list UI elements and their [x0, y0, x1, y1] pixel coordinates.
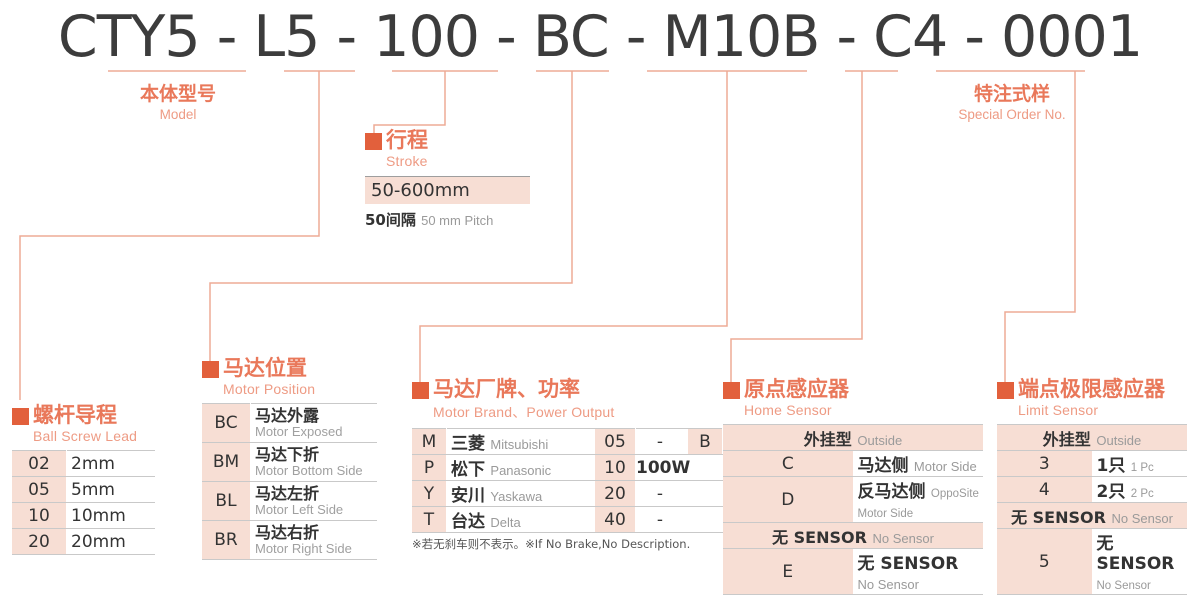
- cell-code: 10: [12, 503, 67, 529]
- banner-no-sensor: 无 SENSOR No Sensor: [723, 523, 983, 549]
- banner-outside-cn: 外挂型: [804, 430, 852, 449]
- limit-sensor-title-cn: 端点极限感应器: [1018, 379, 1165, 400]
- cell-value-en: Motor Left Side: [255, 503, 373, 518]
- section-stroke: 行程 Stroke 50-600mm 50间隔 50 mm Pitch: [365, 130, 530, 230]
- cell-value-cn: 无 SENSOR: [1097, 534, 1175, 574]
- stroke-title-cn: 行程: [386, 130, 428, 151]
- motor-brand-heading: 马达厂牌、功率: [412, 379, 723, 400]
- cell-code: 02: [12, 451, 67, 477]
- table-row[interactable]: 02 2mm: [12, 451, 155, 477]
- cell-value-cn: 马达外露: [255, 407, 373, 425]
- cell-value: 马达外露 Motor Exposed: [251, 404, 378, 443]
- product-code: CTY5 - L5 - 100 - BC - M10B - C4 - 0001: [0, 4, 1200, 70]
- cell-brand-en: Mitsubishi: [490, 437, 548, 452]
- label-model-en: Model: [108, 107, 248, 122]
- motor-position-title-cn: 马达位置: [223, 358, 307, 379]
- cell-code: BM: [202, 443, 251, 482]
- table-row[interactable]: BM 马达下折 Motor Bottom Side: [202, 443, 377, 482]
- table-row[interactable]: 20 20mm: [12, 529, 155, 555]
- cell-value-cn: 反马达侧: [858, 482, 926, 502]
- section-marker-icon: [12, 408, 29, 425]
- table-row[interactable]: C 马达侧 Motor Side: [723, 451, 983, 477]
- cell-value-cn: 马达侧: [858, 456, 909, 476]
- cell-brand-code: P: [412, 455, 447, 481]
- cell-code: E: [723, 549, 853, 595]
- cell-value: 2只 2 Pc: [1092, 477, 1187, 503]
- cell-brand-code: T: [412, 507, 447, 533]
- cell-code: BR: [202, 521, 251, 560]
- table-row[interactable]: T 台达 Delta 40 -: [412, 507, 723, 533]
- table-row[interactable]: 10 10mm: [12, 503, 155, 529]
- label-special-order: 特注式样 Special Order No.: [938, 84, 1086, 122]
- cell-brand-cn: 松下: [451, 460, 485, 480]
- cell-brake-code: [688, 481, 723, 507]
- stroke-title-en: Stroke: [386, 153, 530, 169]
- cell-value-cn: 1只: [1097, 456, 1126, 476]
- banner-no-sensor: 无 SENSOR No Sensor: [997, 503, 1187, 529]
- cell-power-value: -: [636, 507, 689, 533]
- cell-value-en: 1 Pc: [1131, 462, 1154, 474]
- cell-value-cn: 马达左折: [255, 485, 373, 503]
- ball-screw-lead-heading: 螺杆导程: [12, 405, 155, 426]
- banner-no-sensor-en: No Sensor: [873, 531, 934, 546]
- cell-brand-cn: 安川: [451, 486, 485, 506]
- home-sensor-title-cn: 原点感应器: [744, 379, 849, 400]
- section-motor-position: 马达位置 Motor Position BC 马达外露 Motor Expose…: [202, 358, 377, 560]
- table-row[interactable]: BC 马达外露 Motor Exposed: [202, 404, 377, 443]
- stroke-range-box: 50-600mm: [365, 176, 530, 204]
- label-model-cn: 本体型号: [108, 84, 248, 105]
- cell-value-en: Motor Bottom Side: [255, 464, 373, 479]
- cell-brand-cn: 台达: [451, 512, 485, 532]
- table-row[interactable]: 4 2只 2 Pc: [997, 477, 1187, 503]
- home-sensor-table: 外挂型 Outside C 马达侧 Motor Side D 反马达侧 Oppo: [723, 424, 983, 595]
- ball-screw-lead-table: 02 2mm 05 5mm 10 10mm 20 20mm: [12, 450, 155, 555]
- cell-code: 4: [997, 477, 1092, 503]
- cell-code: 5: [997, 529, 1092, 595]
- cell-value: 20mm: [67, 529, 156, 555]
- cell-value-en: 2 Pc: [1131, 488, 1154, 500]
- cell-code: C: [723, 451, 853, 477]
- table-row[interactable]: BR 马达右折 Motor Right Side: [202, 521, 377, 560]
- table-banner-row: 无 SENSOR No Sensor: [723, 523, 983, 549]
- cell-value: 反马达侧 OppoSite Motor Side: [853, 477, 983, 523]
- cell-code: D: [723, 477, 853, 523]
- cell-brand-en: Yaskawa: [490, 489, 542, 504]
- motor-position-table: BC 马达外露 Motor Exposed BM 马达下折 Motor Bott…: [202, 403, 377, 560]
- table-banner-row: 外挂型 Outside: [723, 425, 983, 451]
- cell-value-en: Motor Exposed: [255, 425, 373, 440]
- banner-outside: 外挂型 Outside: [997, 425, 1187, 451]
- banner-no-sensor-cn: 无 SENSOR: [1011, 508, 1106, 527]
- cell-value-cn: 马达下折: [255, 446, 373, 464]
- cell-power-value: 100W: [636, 455, 689, 481]
- cell-value-en: Motor Side: [914, 459, 977, 474]
- table-row[interactable]: 5 无 SENSOR No Sensor: [997, 529, 1187, 595]
- section-marker-icon: [412, 382, 429, 399]
- cell-value: 10mm: [67, 503, 156, 529]
- table-row[interactable]: P 松下 Panasonic 10 100W: [412, 455, 723, 481]
- limit-sensor-heading: 端点极限感应器: [997, 379, 1187, 400]
- banner-outside-en: Outside: [1096, 433, 1141, 448]
- motor-brand-title-cn: 马达厂牌、功率: [433, 379, 580, 400]
- cell-brand-en: Panasonic: [490, 463, 551, 478]
- home-sensor-heading: 原点感应器: [723, 379, 983, 400]
- cell-code: BC: [202, 404, 251, 443]
- section-marker-icon: [997, 382, 1014, 399]
- table-row[interactable]: D 反马达侧 OppoSite Motor Side: [723, 477, 983, 523]
- cell-brake-code: [688, 507, 723, 533]
- table-banner-row: 外挂型 Outside: [997, 425, 1187, 451]
- ball-screw-lead-title-en: Ball Screw Lead: [33, 428, 155, 444]
- section-marker-icon: [365, 133, 382, 150]
- section-motor-brand-power: 马达厂牌、功率 Motor Brand、Power Output M 三菱 Mi…: [412, 379, 723, 552]
- cell-value-en: No Sensor: [858, 577, 919, 592]
- cell-code: 3: [997, 451, 1092, 477]
- cell-brand-name: 三菱 Mitsubishi: [447, 429, 596, 455]
- section-marker-icon: [723, 382, 740, 399]
- motor-position-title-en: Motor Position: [223, 381, 377, 397]
- table-row[interactable]: Y 安川 Yaskawa 20 -: [412, 481, 723, 507]
- motor-position-heading: 马达位置: [202, 358, 377, 379]
- stroke-pitch-en: 50 mm Pitch: [421, 213, 493, 228]
- cell-code: BL: [202, 482, 251, 521]
- table-row[interactable]: M 三菱 Mitsubishi 05 - B: [412, 429, 723, 455]
- label-special-order-en: Special Order No.: [938, 107, 1086, 122]
- limit-sensor-table: 外挂型 Outside 3 1只 1 Pc 4 2只 2 Pc: [997, 424, 1187, 595]
- cell-power-value: -: [636, 481, 689, 507]
- motor-brand-title-en: Motor Brand、Power Output: [433, 402, 723, 422]
- cell-value: 1只 1 Pc: [1092, 451, 1187, 477]
- table-row[interactable]: E 无 SENSOR No Sensor: [723, 549, 983, 595]
- cell-brand-code: M: [412, 429, 447, 455]
- section-limit-sensor: 端点极限感应器 Limit Sensor 外挂型 Outside 3 1只 1 …: [997, 379, 1187, 595]
- table-row[interactable]: 3 1只 1 Pc: [997, 451, 1187, 477]
- cell-value: 5mm: [67, 477, 156, 503]
- table-row[interactable]: BL 马达左折 Motor Left Side: [202, 482, 377, 521]
- label-model: 本体型号 Model: [108, 84, 248, 122]
- cell-value-cn: 无 SENSOR: [858, 554, 959, 574]
- cell-value: 2mm: [67, 451, 156, 477]
- banner-outside: 外挂型 Outside: [723, 425, 983, 451]
- home-sensor-title-en: Home Sensor: [744, 402, 983, 418]
- section-marker-icon: [202, 361, 219, 378]
- cell-brand-name: 松下 Panasonic: [447, 455, 596, 481]
- cell-value-cn: 2只: [1097, 482, 1126, 502]
- ball-screw-lead-title-cn: 螺杆导程: [33, 405, 117, 426]
- cell-value: 无 SENSOR No Sensor: [1092, 529, 1187, 595]
- cell-brand-name: 台达 Delta: [447, 507, 596, 533]
- cell-power-code: 20: [595, 481, 636, 507]
- motor-brand-note: ※若无刹车则不表示。※If No Brake,No Description.: [412, 536, 723, 552]
- cell-brake-code: B: [688, 429, 723, 455]
- cell-value: 马达左折 Motor Left Side: [251, 482, 378, 521]
- table-banner-row: 无 SENSOR No Sensor: [997, 503, 1187, 529]
- product-code-diagram: CTY5 - L5 - 100 - BC - M10B - C4 - 0001: [0, 0, 1200, 575]
- cell-value-en: No Sensor: [1097, 580, 1151, 592]
- stroke-pitch-cn: 50间隔: [365, 211, 416, 229]
- section-ball-screw-lead: 螺杆导程 Ball Screw Lead 02 2mm 05 5mm 10 10…: [12, 405, 155, 555]
- cell-value: 马达侧 Motor Side: [853, 451, 983, 477]
- stroke-pitch: 50间隔 50 mm Pitch: [365, 209, 530, 230]
- cell-brake-code: [688, 455, 723, 481]
- cell-power-value: -: [636, 429, 689, 455]
- limit-sensor-title-en: Limit Sensor: [1018, 402, 1187, 418]
- cell-code: 20: [12, 529, 67, 555]
- banner-outside-cn: 外挂型: [1043, 430, 1091, 449]
- cell-value-en: Motor Right Side: [255, 542, 373, 557]
- cell-power-code: 05: [595, 429, 636, 455]
- cell-value: 马达右折 Motor Right Side: [251, 521, 378, 560]
- banner-no-sensor-en: No Sensor: [1112, 511, 1173, 526]
- cell-power-code: 10: [595, 455, 636, 481]
- cell-value: 马达下折 Motor Bottom Side: [251, 443, 378, 482]
- cell-brand-code: Y: [412, 481, 447, 507]
- banner-no-sensor-cn: 无 SENSOR: [772, 528, 867, 547]
- cell-value-cn: 马达右折: [255, 524, 373, 542]
- cell-power-code: 40: [595, 507, 636, 533]
- label-special-order-cn: 特注式样: [938, 84, 1086, 105]
- cell-brand-cn: 三菱: [451, 434, 485, 454]
- table-row[interactable]: 05 5mm: [12, 477, 155, 503]
- cell-brand-name: 安川 Yaskawa: [447, 481, 596, 507]
- motor-brand-table: M 三菱 Mitsubishi 05 - B P 松下 Panasonic 10: [412, 428, 723, 533]
- section-home-sensor: 原点感应器 Home Sensor 外挂型 Outside C 马达侧 Moto…: [723, 379, 983, 595]
- stroke-heading: 行程: [365, 130, 530, 151]
- cell-value: 无 SENSOR No Sensor: [853, 549, 983, 595]
- cell-brand-en: Delta: [490, 515, 520, 530]
- cell-code: 05: [12, 477, 67, 503]
- banner-outside-en: Outside: [857, 433, 902, 448]
